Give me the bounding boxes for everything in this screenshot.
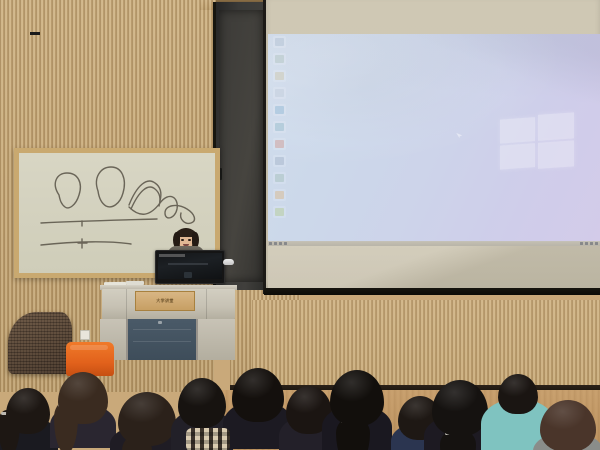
audience	[0, 352, 600, 450]
icon-document-glyph	[275, 89, 284, 97]
icon-folder-glyph	[275, 72, 284, 80]
oval-sketch-left	[55, 173, 80, 208]
icon-edge-browser-glyph	[275, 106, 284, 114]
arch-curve-sketch-2	[131, 187, 160, 209]
attendee-5-head	[232, 368, 284, 422]
horizontal-line-upper	[41, 219, 157, 223]
attendee-10-head	[498, 374, 538, 414]
taskbar-system-tray[interactable]	[580, 242, 598, 245]
attendee-11-head	[540, 400, 596, 450]
lectern: 大学讲堂	[100, 285, 237, 360]
computer-mouse[interactable]	[223, 259, 234, 265]
lecture-hall-photo: 大学讲堂	[0, 0, 600, 450]
attendee-2-head	[58, 372, 108, 424]
icon-archive-glyph	[275, 157, 284, 165]
dark-wall-panel-inner	[219, 10, 263, 282]
windows-logo-icon	[500, 115, 574, 172]
lectern-plaque-text: 大学讲堂	[156, 298, 174, 304]
monitor-stand	[30, 32, 40, 35]
arch-curve-sketch	[129, 181, 161, 205]
projection-screen-bottom-bar	[264, 288, 600, 295]
icon-recycle-bin-glyph	[275, 55, 284, 63]
monitor-logo	[184, 272, 192, 278]
icon-antivirus-shield-glyph	[275, 174, 284, 182]
icon-installer-glyph	[275, 208, 284, 216]
oval-sketch-right	[96, 167, 124, 207]
icon-folder[interactable]	[273, 70, 286, 82]
icon-archive[interactable]	[273, 155, 286, 167]
presenter-eye-left	[181, 239, 184, 241]
tray-icon-4[interactable]	[595, 242, 598, 245]
attendee-4-head	[178, 378, 226, 428]
taskbar-item-1[interactable]	[269, 242, 272, 245]
icon-edge-browser[interactable]	[273, 104, 286, 116]
icon-recycle-bin[interactable]	[273, 53, 286, 65]
projected-desktop	[268, 34, 600, 242]
wall-outlet[interactable]	[80, 330, 90, 340]
icon-computer[interactable]	[273, 36, 286, 48]
taskbar-item-2[interactable]	[274, 242, 277, 245]
tray-icon-1[interactable]	[580, 242, 583, 245]
icon-pdf-reader[interactable]	[273, 138, 286, 150]
lectern-name-plaque: 大学讲堂	[135, 291, 195, 311]
screen-fold-shadow	[268, 246, 600, 288]
icon-pdf-reader-glyph	[275, 140, 284, 148]
plaid-scarf	[186, 428, 230, 450]
projection-screen-lower-blank	[268, 246, 600, 288]
icon-chat-app-glyph	[275, 191, 284, 199]
attendee-3-head	[118, 392, 176, 446]
tray-icon-3[interactable]	[590, 242, 593, 245]
taskbar-left-items[interactable]	[269, 242, 287, 245]
icon-computer-glyph	[275, 38, 284, 46]
desktop-icon-column[interactable]	[270, 36, 292, 223]
taskbar-item-3[interactable]	[279, 242, 282, 245]
attendee-9-head	[432, 380, 488, 436]
monitor-screen-highlight	[159, 254, 185, 257]
podium-monitor[interactable]	[155, 250, 225, 284]
monitor-screen-row	[168, 263, 208, 265]
taskbar-item-4[interactable]	[284, 242, 287, 245]
icon-media-player-glyph	[275, 123, 284, 131]
icon-media-player[interactable]	[273, 121, 286, 133]
attendee-1-head	[6, 388, 50, 434]
icon-antivirus-shield[interactable]	[273, 172, 286, 184]
icon-installer[interactable]	[273, 206, 286, 218]
icon-chat-app[interactable]	[273, 189, 286, 201]
lectern-knob[interactable]	[158, 321, 162, 324]
tray-icon-2[interactable]	[585, 242, 588, 245]
presenter-eye-right	[188, 239, 191, 241]
icon-document[interactable]	[273, 87, 286, 99]
attendee-7-head	[330, 370, 384, 426]
